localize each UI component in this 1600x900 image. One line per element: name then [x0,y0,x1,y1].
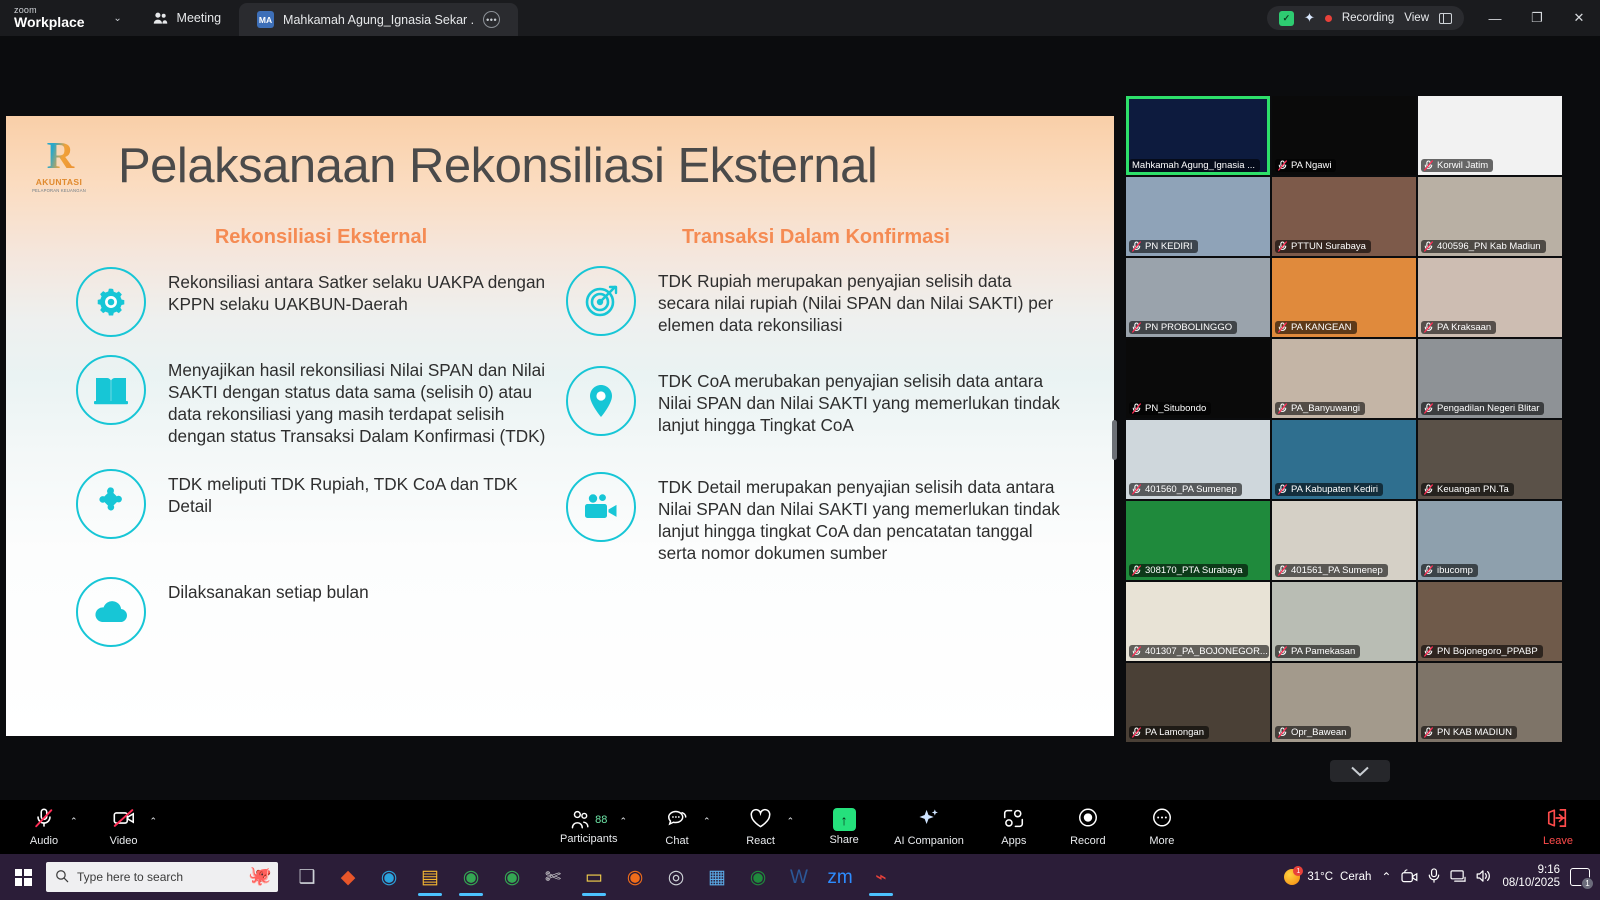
gallery-row: PA LamonganOpr_BaweanPN KAB MADIUN [1126,663,1596,742]
list-item: TDK Detail merupakan penyajian selisih d… [566,472,1066,564]
calculator-icon[interactable]: ▦ [700,857,734,897]
logo-glyph: R [30,136,88,176]
gallery-row: PN KEDIRIPTTUN Surabaya400596_PN Kab Mad… [1126,177,1596,256]
participant-tile[interactable]: PA KANGEAN [1272,258,1416,337]
participant-tile[interactable]: PA Kraksaan [1418,258,1562,337]
participant-name: PN KAB MADIUN [1437,727,1512,738]
gallery-row: 401560_PA SumenepPA Kabupaten KediriKeua… [1126,420,1596,499]
participant-name-badge: PA KANGEAN [1275,321,1357,334]
audio-options-caret[interactable]: ⌃ [70,816,78,827]
microphone-muted-icon [1424,241,1433,252]
react-control-group: React ⌃ [737,802,795,852]
tab-shared-meeting[interactable]: MA Mahkamah Agung_Ignasia Sekar . ••• [239,3,518,36]
participant-tile[interactable]: Mahkamah Agung_Ignasia ... [1126,96,1270,175]
slide-column-right: Transaksi Dalam Konfirmasi TDK Rupiah me… [566,226,1066,566]
chat-button[interactable]: Chat [653,802,701,852]
participant-tile[interactable]: PA Ngawi [1272,96,1416,175]
participant-name-badge: 308170_PTA Surabaya [1129,564,1248,577]
microphone-muted-icon [1424,727,1433,738]
microphone-muted-icon [1278,484,1287,495]
participant-tile[interactable]: 308170_PTA Surabaya [1126,501,1270,580]
participant-name-badge: PN Bojonegoro_PPABP [1421,645,1543,658]
ai-companion-button[interactable]: AI Companion [894,802,964,852]
search-placeholder: Type here to search [77,870,183,884]
minimize-button[interactable]: — [1474,0,1516,36]
participant-name-badge: PA Lamongan [1129,726,1209,739]
camera-off-icon [112,807,136,832]
recording-label: Recording [1342,12,1394,24]
microphone-muted-icon [1278,322,1287,333]
sticky-notes-icon[interactable]: ▭ [577,857,611,897]
video-control-group: Video ⌃ [100,802,158,852]
participant-name: PA Lamongan [1145,727,1204,738]
more-button[interactable]: More [1138,802,1186,852]
record-icon [1077,807,1099,832]
participant-tile[interactable]: PA Lamongan [1126,663,1270,742]
participant-name: 401307_PA_BOJONEGOR... [1145,646,1268,657]
toolbar-right-group: Leave [1534,802,1582,852]
list-item-text: TDK CoA merubakan penyajian selisih data… [658,366,1066,436]
stage-scrollbar-thumb[interactable] [1112,420,1117,460]
participant-name-badge: PA_Banyuwangi [1275,402,1365,415]
list-item: TDK CoA merubakan penyajian selisih data… [566,366,1066,436]
video-label: Video [110,835,138,847]
participants-label: Participants [560,833,617,845]
participant-name: Opr_Bawean [1291,727,1346,738]
participant-tile[interactable]: 401307_PA_BOJONEGOR... [1126,582,1270,661]
pdf-reader-icon[interactable]: ⌁ [864,857,898,897]
participants-count: 88 [595,814,607,826]
participant-name-badge: PA Kraksaan [1421,321,1496,334]
participant-name: PA Pamekasan [1291,646,1355,657]
microphone-muted-icon [1278,160,1287,171]
meeting-controls-toolbar: Audio ⌃ Video ⌃ [0,800,1600,854]
participant-name-badge: Opr_Bawean [1275,726,1351,739]
list-item-text: Menyajikan hasil rekonsiliasi Nilai SPAN… [168,355,566,447]
share-button[interactable]: ↑ Share [820,802,868,852]
participant-tile[interactable]: PN_Situbondo [1126,339,1270,418]
participant-name: 401560_PA Sumenep [1145,484,1237,495]
chat-bubble-icon [666,808,688,832]
more-label: More [1149,835,1174,847]
left-column-heading: Rekonsiliasi Eksternal [76,226,566,249]
network-icon[interactable] [1450,869,1467,886]
titlebar-right-cluster: ✓ ✦ Recording View — ❐ ✕ [1267,0,1600,36]
task-view-icon[interactable]: ❑ [290,857,324,897]
microphone-muted-icon [1132,322,1141,333]
participants-button[interactable]: 88 Participants [560,802,617,852]
logo-text-primary: AKUNTASI [30,177,88,187]
participant-tile[interactable]: PA Kabupaten Kediri [1272,420,1416,499]
participant-tile-grid: Mahkamah Agung_Ignasia ...PA NgawiKorwil… [1126,96,1596,744]
chrome-court-icon[interactable]: ◉ [741,857,775,897]
zoom-brand: zoom Workplace ⌄ [0,0,135,36]
microphone-muted-icon [33,807,55,832]
participant-name: Keuangan PN.Ta [1437,484,1509,495]
microphone-muted-icon [1424,646,1433,657]
participant-name-badge: PN KAB MADIUN [1421,726,1517,739]
obs-studio-icon[interactable]: ◎ [659,857,693,897]
participant-name-badge: PA Kabupaten Kediri [1275,483,1383,496]
search-input[interactable]: Type here to search 🐙 [46,862,278,892]
participant-name: PA_Banyuwangi [1291,403,1360,414]
video-camera-icon [566,472,636,542]
participant-tile[interactable]: PN KAB MADIUN [1418,663,1562,742]
window-title-bar: zoom Workplace ⌄ Meeting MA Mahkamah Agu… [0,0,1600,36]
people-icon [153,11,168,25]
microphone-muted-icon [1424,403,1433,414]
tab-meeting-label: Meeting [177,11,221,25]
list-item-text: Dilaksanakan setiap bulan [168,577,369,603]
list-item: TDK Rupiah merupakan penyajian selisih d… [566,266,1066,336]
microphone-muted-icon [1424,160,1433,171]
puzzle-piece-icon [76,469,146,539]
list-item: Rekonsiliasi antara Satker selaku UAKPA … [76,267,566,337]
heart-icon [749,808,772,832]
view-layout-icon[interactable] [1439,13,1452,24]
target-icon [566,266,636,336]
participant-tile[interactable]: 400596_PN Kab Madiun [1418,177,1562,256]
notification-count: 1 [1581,877,1594,890]
gallery-next-page[interactable] [1120,758,1600,784]
avatar: MA [257,11,274,28]
slide-column-left: Rekonsiliasi Eksternal Rekonsiliasi anta… [76,226,566,649]
gallery-row: PN PROBOLINGGOPA KANGEANPA Kraksaan [1126,258,1596,337]
chevron-down-icon[interactable] [1330,760,1390,782]
participant-name: ibucomp [1437,565,1473,576]
participant-name: 401561_PA Sumenep [1291,565,1383,576]
microphone-muted-icon [1132,565,1141,576]
microphone-icon[interactable] [1427,868,1441,886]
toolbar-left-group: Audio ⌃ Video ⌃ [20,802,157,852]
participant-name: PA Ngawi [1291,160,1331,171]
audio-control-group: Audio ⌃ [20,802,78,852]
gallery-row: 401307_PA_BOJONEGOR...PA PamekasanPN Boj… [1126,582,1596,661]
cloud-icon [76,577,146,647]
participant-name: PN PROBOLINGGO [1145,322,1232,333]
tab-more-icon[interactable]: ••• [483,11,500,28]
participant-name: PN KEDIRI [1145,241,1193,252]
view-button-label[interactable]: View [1404,12,1429,24]
gallery-row: 308170_PTA Surabaya401561_PA Sumenepibuc… [1126,501,1596,580]
right-column-heading: Transaksi Dalam Konfirmasi [566,226,1066,249]
participant-name: 308170_PTA Surabaya [1145,565,1243,576]
taskbar-app-icons: ❑◆◉▤◉◉✄▭◉◎▦◉Wzm⌁ [290,857,898,897]
open-book-icon [76,355,146,425]
microphone-muted-icon [1278,727,1287,738]
participant-name-badge: PN KEDIRI [1129,240,1198,253]
microphone-muted-icon [1424,565,1433,576]
participant-name-badge: Keuangan PN.Ta [1421,483,1514,496]
tab-shared-meeting-label: Mahkamah Agung_Ignasia Sekar . [283,13,474,27]
clock-time: 9:16 [1502,864,1560,877]
slide-title: Pelaksanaan Rekonsiliasi Eksternal [118,138,1078,194]
windows-taskbar: Type here to search 🐙 ❑◆◉▤◉◉✄▭◉◎▦◉Wzm⌁ 1… [0,854,1600,900]
chat-label: Chat [665,835,688,847]
chrome-profile-icon[interactable]: ◉ [454,857,488,897]
volume-icon[interactable] [1476,869,1492,886]
participant-name-badge: 400596_PN Kab Madiun [1421,240,1546,253]
participant-tile[interactable]: Pengadilan Negeri Blitar [1418,339,1562,418]
list-item-text: Rekonsiliasi antara Satker selaku UAKPA … [168,267,566,315]
participant-name-badge: Pengadilan Negeri Blitar [1421,402,1544,415]
participant-name-badge: PA Ngawi [1275,159,1336,172]
ai-sparkle-icon[interactable]: ✦ [1304,10,1315,26]
shield-check-icon[interactable]: ✓ [1279,11,1294,26]
participant-tile[interactable]: 401561_PA Sumenep [1272,501,1416,580]
microphone-muted-icon [1278,241,1287,252]
edge-icon[interactable]: ◉ [372,857,406,897]
clock-date: 08/10/2025 [1502,877,1560,890]
ellipsis-icon [1151,807,1173,832]
leave-label: Leave [1543,835,1573,847]
video-options-caret[interactable]: ⌃ [150,816,158,827]
clock[interactable]: 9:16 08/10/2025 [1502,864,1560,890]
participants-control-group: 88 Participants ⌃ [560,802,627,852]
brand-workplace-label: Workplace [14,15,85,30]
list-item: Dilaksanakan setiap bulan [76,577,566,647]
participant-name: PTTUN Surabaya [1291,241,1366,252]
chevron-down-icon[interactable]: ⌄ [111,11,125,25]
list-item-text: TDK meliputi TDK Rupiah, TDK CoA dan TDK… [168,469,566,517]
show-hidden-icons[interactable]: ⌃ [1381,870,1391,884]
participant-name: PN Bojonegoro_PPABP [1437,646,1538,657]
microphone-muted-icon [1278,565,1287,576]
recording-dot-icon [1325,15,1332,22]
system-tray: 1 31°C Cerah ⌃ [1284,864,1600,890]
participant-name-badge: PN PROBOLINGGO [1129,321,1237,334]
microphone-muted-icon [1132,403,1141,414]
gallery-row: PN_SitubondoPA_BanyuwangiPengadilan Nege… [1126,339,1596,418]
microphone-muted-icon [1278,403,1287,414]
firefox-icon[interactable]: ◉ [618,857,652,897]
microphone-muted-icon [1132,484,1141,495]
octopus-icon: 🐙 [248,864,272,888]
participant-name-badge: Korwil Jatim [1421,159,1493,172]
microphone-muted-icon [1424,322,1433,333]
list-item-text: TDK Rupiah merupakan penyajian selisih d… [658,266,1066,336]
react-options-caret[interactable]: ⌃ [787,816,795,827]
participants-options-caret[interactable]: ⌃ [619,816,627,827]
audio-label: Audio [30,835,58,847]
participant-tile[interactable]: Keuangan PN.Ta [1418,420,1562,499]
list-item: TDK meliputi TDK Rupiah, TDK CoA dan TDK… [76,469,566,539]
toolbar-center-group: 88 Participants ⌃ [560,802,1186,852]
microphone-muted-icon [1132,646,1141,657]
ai-companion-label: AI Companion [894,835,964,847]
participant-tile[interactable]: PN Bojonegoro_PPABP [1418,582,1562,661]
list-item-text: TDK Detail merupakan penyajian selisih d… [658,472,1066,564]
chat-options-caret[interactable]: ⌃ [703,816,711,827]
file-explorer-icon[interactable]: ▤ [413,857,447,897]
list-item: Menyajikan hasil rekonsiliasi Nilai SPAN… [76,355,566,447]
chrome-icon[interactable]: ◉ [495,857,529,897]
tray-icons-group [1401,868,1492,886]
participant-name: PA Kabupaten Kediri [1291,484,1378,495]
participant-tile[interactable]: PN KEDIRI [1126,177,1270,256]
word-icon[interactable]: W [782,857,816,897]
participant-name-badge: 401560_PA Sumenep [1129,483,1242,496]
microsoft-365-icon[interactable]: ◆ [331,857,365,897]
chat-control-group: Chat ⌃ [653,802,711,852]
apps-icon [1002,808,1025,832]
akuntansi-logo: R AKUNTASI PELAPORAN KEUANGAN [30,136,88,198]
participant-name: Pengadilan Negeri Blitar [1437,403,1539,414]
participant-name: 400596_PN Kab Madiun [1437,241,1541,252]
participant-name-badge: 401307_PA_BOJONEGOR... [1129,645,1269,658]
participant-name: PN_Situbondo [1145,403,1206,414]
presentation-slide: R AKUNTASI PELAPORAN KEUANGAN Pelaksanaa… [6,116,1114,736]
participant-gallery: Mahkamah Agung_Ignasia ...PA NgawiKorwil… [1120,36,1600,800]
microphone-muted-icon [1278,646,1287,657]
participant-tile[interactable]: PN PROBOLINGGO [1126,258,1270,337]
participant-name-badge: PA Pamekasan [1275,645,1360,658]
restore-button[interactable]: ❐ [1516,0,1558,36]
leave-button[interactable]: Leave [1534,802,1582,852]
shared-screen-stage: R AKUNTASI PELAPORAN KEUANGAN Pelaksanaa… [0,36,1120,800]
participant-tile[interactable]: ibucomp [1418,501,1562,580]
gallery-row: Mahkamah Agung_Ignasia ...PA NgawiKorwil… [1126,96,1596,175]
weather-badge: 1 [1293,866,1303,876]
participant-name-badge: Mahkamah Agung_Ignasia ... [1129,159,1260,172]
participant-tile[interactable]: PTTUN Surabaya [1272,177,1416,256]
participant-tile[interactable]: PA Pamekasan [1272,582,1416,661]
audio-button[interactable]: Audio [20,802,68,852]
microphone-muted-icon [1132,727,1141,738]
record-button[interactable]: Record [1064,802,1112,852]
apps-label: Apps [1001,835,1026,847]
close-button[interactable]: ✕ [1558,0,1600,36]
participant-tile[interactable]: Opr_Bawean [1272,663,1416,742]
participant-tile[interactable]: Korwil Jatim [1418,96,1562,175]
gear-icon [76,267,146,337]
leave-door-icon [1546,807,1570,832]
react-label: React [746,835,775,847]
apps-button[interactable]: Apps [990,802,1038,852]
weather-desc: Cerah [1340,871,1371,883]
status-pill: ✓ ✦ Recording View [1267,6,1464,30]
share-screen-icon: ↑ [833,808,856,831]
snipping-tool-icon[interactable]: ✄ [536,857,570,897]
participant-name-badge: ibucomp [1421,564,1478,577]
participant-name: Korwil Jatim [1437,160,1488,171]
video-button[interactable]: Video [100,802,148,852]
map-pin-icon [566,366,636,436]
participant-name: PA KANGEAN [1291,322,1352,333]
microphone-muted-icon [1424,484,1433,495]
tab-meeting[interactable]: Meeting [135,0,239,36]
notification-icon[interactable]: 1 [1570,868,1590,886]
windows-start-icon[interactable] [0,854,46,900]
participant-name-badge: 401561_PA Sumenep [1275,564,1388,577]
participant-tile[interactable]: PA_Banyuwangi [1272,339,1416,418]
record-label: Record [1070,835,1105,847]
zoom-icon[interactable]: zm [823,857,857,897]
weather-widget[interactable]: 1 31°C Cerah [1284,869,1371,885]
search-icon [55,869,69,886]
participant-name-badge: PTTUN Surabaya [1275,240,1371,253]
weather-temp: 31°C [1307,871,1333,883]
participant-name: PA Kraksaan [1437,322,1491,333]
participant-name-badge: PN_Situbondo [1129,402,1211,415]
react-button[interactable]: React [737,802,785,852]
logo-text-secondary: PELAPORAN KEUANGAN [30,188,88,193]
people-icon: 88 [570,810,607,830]
sun-icon: 1 [1284,869,1300,885]
microphone-muted-icon [1132,241,1141,252]
meet-now-icon[interactable] [1401,869,1418,886]
zoom-meeting-window: zoom Workplace ⌄ Meeting MA Mahkamah Agu… [0,0,1600,900]
participant-name: Mahkamah Agung_Ignasia ... [1132,160,1255,171]
share-label: Share [829,834,858,846]
ai-sparkle-icon [917,807,940,832]
participant-tile[interactable]: 401560_PA Sumenep [1126,420,1270,499]
